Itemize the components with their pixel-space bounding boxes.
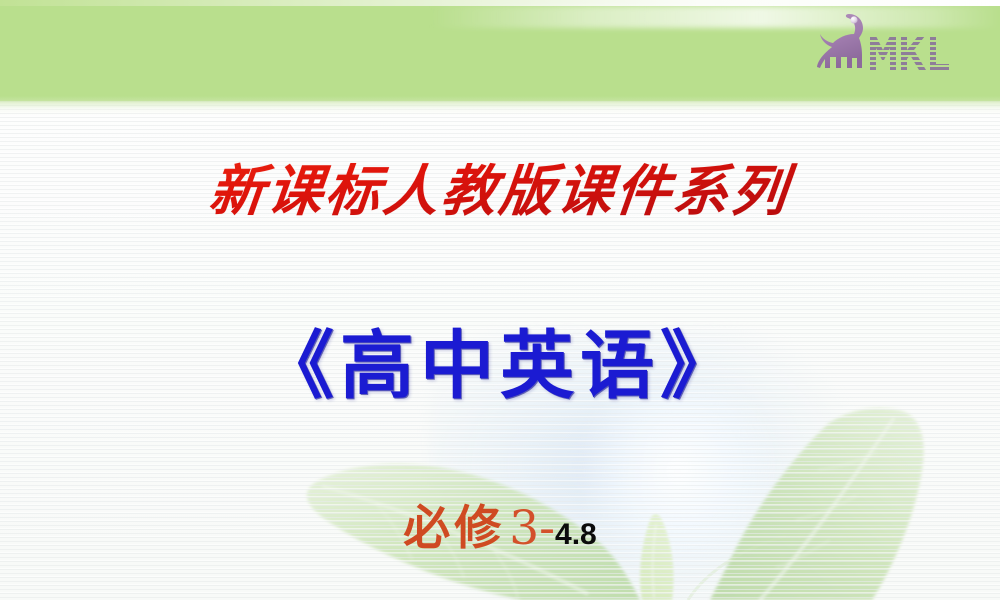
subtitle-volume: 3- xyxy=(509,501,555,556)
series-title: 新课标人教版课件系列 xyxy=(0,146,1000,226)
subtitle-line: 必修 3- 4.8 xyxy=(0,489,1000,558)
header-band-fade xyxy=(0,96,1000,116)
slide-canvas: 新课标人教版课件系列 《高中英语》 必修 3- 4.8 xyxy=(0,0,1000,600)
subtitle-version: 4.8 xyxy=(555,518,597,551)
mkl-wordmark xyxy=(870,36,949,70)
book-title: 《高中英语》 xyxy=(0,306,1000,413)
dinosaur-icon xyxy=(817,14,863,68)
mkl-logo[interactable] xyxy=(812,12,952,78)
subtitle-label: 必修 xyxy=(403,501,505,556)
